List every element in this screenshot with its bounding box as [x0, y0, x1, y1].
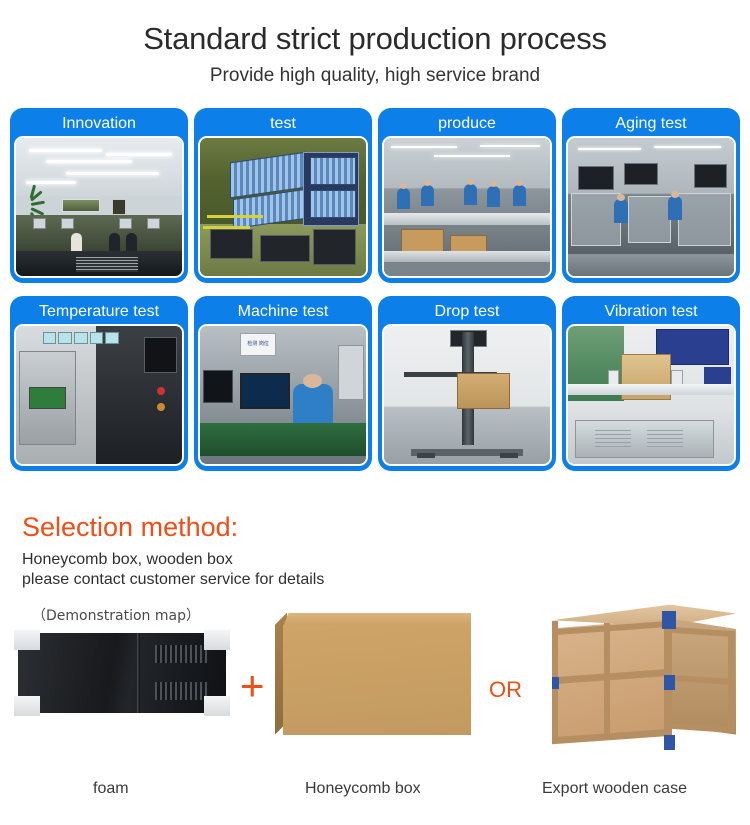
process-card-drop-test[interactable]: Drop test: [378, 296, 556, 471]
selection-method-line-1: Honeycomb box, wooden box: [22, 550, 750, 570]
aging-test-shelves-photo: [566, 136, 736, 278]
temperature-chamber-photo: [14, 324, 184, 466]
crate-corner-bracket: [662, 611, 676, 629]
demonstration-map-note: （Demonstration map）: [32, 605, 200, 625]
selection-method-section: Selection method: Honeycomb box, wooden …: [22, 513, 750, 591]
or-separator-label: OR: [489, 679, 522, 701]
process-card-label: produce: [382, 112, 552, 136]
foam-corner-protector: [204, 696, 230, 716]
process-card-temperature-test[interactable]: Temperature test: [10, 296, 188, 471]
packaging-options-row: （Demonstration map） + OR: [0, 605, 750, 780]
process-card-innovation[interactable]: Innovation: [10, 108, 188, 283]
inspection-station-sign: 检测 岗位: [240, 333, 277, 356]
crate-corner-bracket: [664, 735, 675, 750]
assembly-line-photo: [382, 136, 552, 278]
selection-method-line-2: please contact customer service for deta…: [22, 570, 750, 590]
process-card-label: Drop test: [382, 300, 552, 324]
page-title: Standard strict production process: [0, 22, 750, 56]
export-wooden-case-image: [552, 605, 738, 755]
process-card-label: Machine test: [198, 300, 368, 324]
foam-corner-protector: [14, 696, 40, 716]
process-card-machine-test[interactable]: Machine test 检测 岗位: [194, 296, 372, 471]
process-card-label: test: [198, 112, 368, 136]
process-card-test[interactable]: test: [194, 108, 372, 283]
office-workstations-photo: [14, 136, 184, 278]
page-subtitle: Provide high quality, high service brand: [0, 66, 750, 87]
crate-corner-bracket: [552, 677, 559, 689]
selection-method-heading: Selection method:: [22, 513, 750, 543]
vibration-test-bench-photo: [566, 324, 736, 466]
test-racks-photo: [198, 136, 368, 278]
page-header: Standard strict production process Provi…: [0, 0, 750, 87]
crate-corner-bracket: [664, 675, 675, 690]
process-card-vibration-test[interactable]: Vibration test: [562, 296, 740, 471]
process-card-label: Vibration test: [566, 300, 736, 324]
caption-foam: foam: [93, 780, 129, 798]
process-card-produce[interactable]: produce: [378, 108, 556, 283]
foam-corner-protector: [204, 630, 230, 650]
production-process-grid: Innovation: [10, 108, 740, 471]
process-card-label: Temperature test: [14, 300, 184, 324]
process-card-aging-test[interactable]: Aging test: [562, 108, 740, 283]
process-card-label: Aging test: [566, 112, 736, 136]
packaging-captions: foam Honeycomb box Export wooden case: [0, 780, 750, 820]
caption-honeycomb-box: Honeycomb box: [305, 780, 421, 798]
foam-packaging-image: [18, 633, 226, 713]
drop-test-rig-photo: [382, 324, 552, 466]
honeycomb-box-image: [275, 613, 471, 735]
plus-icon: +: [240, 665, 265, 707]
process-card-label: Innovation: [14, 112, 184, 136]
caption-export-wooden-case: Export wooden case: [542, 780, 687, 798]
machine-test-station-photo: 检测 岗位: [198, 324, 368, 466]
foam-corner-protector: [14, 630, 40, 650]
